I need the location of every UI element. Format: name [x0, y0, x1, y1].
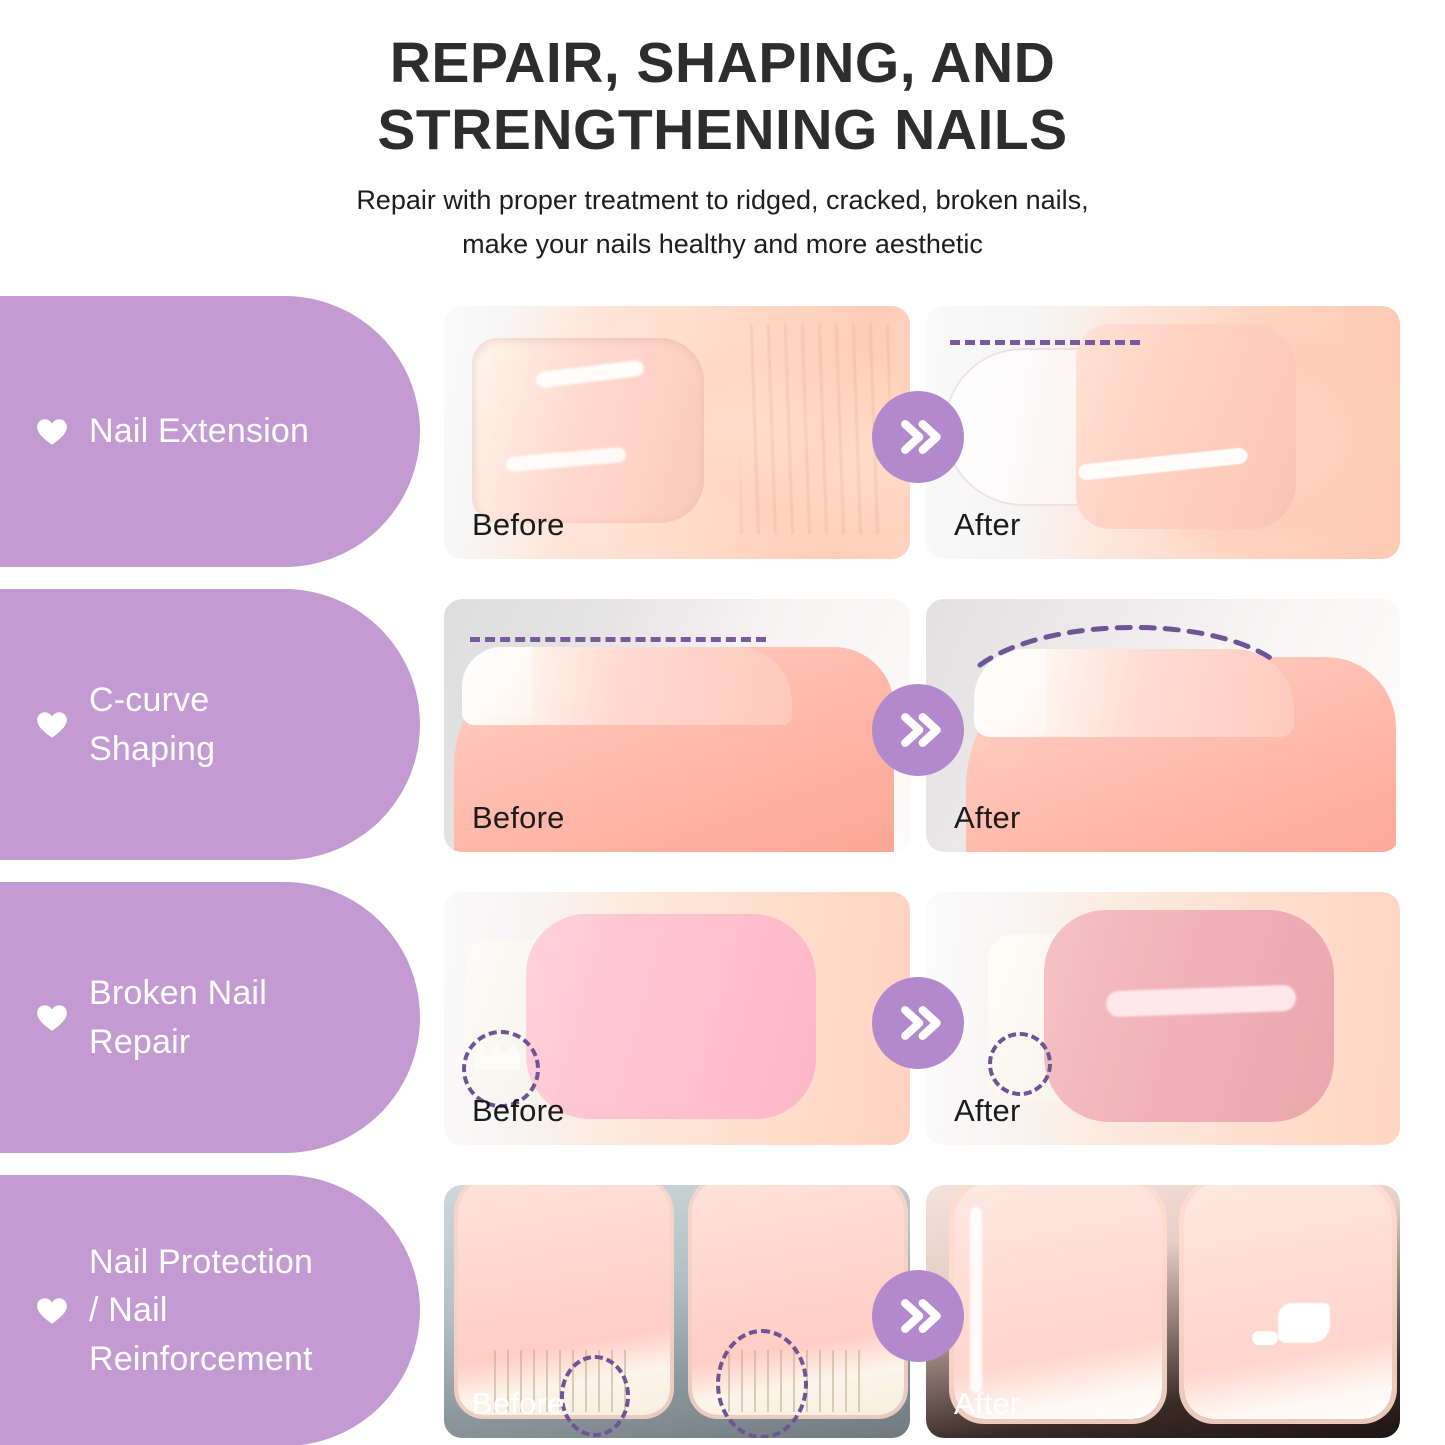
feature-pill-label: Nail Protection / Nail Reinforcement	[89, 1238, 313, 1383]
feature-pill-label: Broken Nail Repair	[89, 969, 267, 1066]
page-header: REPAIR, SHAPING, AND STRENGTHENING NAILS…	[0, 0, 1445, 290]
page-title: REPAIR, SHAPING, AND STRENGTHENING NAILS	[0, 0, 1445, 163]
nail-plate	[954, 1185, 1162, 1419]
before-caption: Before	[472, 1386, 565, 1422]
c-curve-dashed-arc	[976, 613, 1276, 673]
weak-nail-highlight-dashed-circle	[560, 1355, 630, 1437]
page-title-line-2: STRENGTHENING NAILS	[0, 97, 1445, 164]
feature-pill-label-line-1: Broken Nail	[89, 974, 267, 1012]
heart-icon	[35, 415, 69, 449]
repaired-highlight-dashed-circle	[988, 1032, 1052, 1096]
heart-icon	[35, 708, 69, 742]
nail-shine	[970, 1207, 982, 1393]
double-chevron-right-icon	[890, 1288, 946, 1344]
feature-pill-label-line-3: Reinforcement	[89, 1340, 313, 1378]
transition-arrow-badge	[872, 1270, 964, 1362]
before-caption: Before	[472, 1093, 565, 1129]
after-photo-c-curve: After	[926, 599, 1400, 852]
after-caption: After	[954, 507, 1020, 543]
feature-pill-label-line-1: C-curve	[89, 681, 209, 719]
nail-plate	[1076, 324, 1296, 529]
feature-pill-label: Nail Extension	[89, 407, 309, 455]
page-title-line-1: REPAIR, SHAPING, AND	[0, 30, 1445, 97]
before-photo-nail-protection: Before	[444, 1185, 910, 1438]
nail-shine	[1252, 1331, 1278, 1345]
nail-plate	[1044, 910, 1334, 1122]
after-photo-nail-extension: After	[926, 306, 1400, 559]
feature-pill-label-line-2: Repair	[89, 1023, 190, 1061]
extension-length-dashed-line	[950, 340, 1140, 345]
after-caption: After	[954, 1093, 1020, 1129]
transition-arrow-badge	[872, 391, 964, 483]
transition-arrow-badge	[872, 684, 964, 776]
heart-icon	[35, 1001, 69, 1035]
feature-pill-broken-nail-repair[interactable]: Broken Nail Repair	[0, 882, 420, 1153]
feature-row-c-curve-shaping: C-curve Shaping Before	[0, 589, 1445, 870]
nail-shine	[1278, 1303, 1330, 1343]
before-caption: Before	[472, 800, 565, 836]
double-chevron-right-icon	[890, 409, 946, 465]
before-photo-c-curve: Before	[444, 599, 910, 852]
flat-shape-dashed-line	[470, 637, 766, 642]
nail-free-edge	[462, 647, 532, 717]
before-photo-nail-extension: Before	[444, 306, 910, 559]
infographic-page: REPAIR, SHAPING, AND STRENGTHENING NAILS…	[0, 0, 1445, 1445]
feature-rows: Nail Extension Before	[0, 296, 1445, 1445]
weak-nail-highlight-dashed-circle	[716, 1329, 808, 1438]
before-caption: Before	[472, 507, 565, 543]
after-caption: After	[954, 800, 1020, 836]
feature-pill-label-line-2: / Nail	[89, 1291, 168, 1329]
feature-pill-c-curve-shaping[interactable]: C-curve Shaping	[0, 589, 420, 860]
after-photo-broken-nail: After	[926, 892, 1400, 1145]
double-chevron-right-icon	[890, 995, 946, 1051]
after-photo-nail-protection: After	[926, 1185, 1400, 1438]
page-subtitle-line-1: Repair with proper treatment to ridged, …	[0, 179, 1445, 223]
feature-pill-nail-extension[interactable]: Nail Extension	[0, 296, 420, 567]
feature-pill-label-line-1: Nail Protection	[89, 1243, 313, 1281]
heart-icon	[35, 1294, 69, 1328]
after-caption: After	[954, 1386, 1020, 1422]
page-subtitle-line-2: make your nails healthy and more aesthet…	[0, 223, 1445, 267]
nail-plate	[1184, 1185, 1392, 1419]
feature-pill-label-line-2: Shaping	[89, 730, 215, 768]
nail-plate	[526, 914, 816, 1119]
page-subtitle: Repair with proper treatment to ridged, …	[0, 179, 1445, 266]
feature-row-broken-nail-repair: Broken Nail Repair Before	[0, 882, 1445, 1163]
finger-skin-texture	[740, 324, 890, 534]
feature-row-nail-protection: Nail Protection / Nail Reinforcement Bef…	[0, 1175, 1445, 1445]
feature-pill-label: C-curve Shaping	[89, 676, 215, 773]
double-chevron-right-icon	[890, 702, 946, 758]
feature-pill-nail-protection[interactable]: Nail Protection / Nail Reinforcement	[0, 1175, 420, 1445]
before-photo-broken-nail: Before	[444, 892, 910, 1145]
feature-row-nail-extension: Nail Extension Before	[0, 296, 1445, 577]
transition-arrow-badge	[872, 977, 964, 1069]
